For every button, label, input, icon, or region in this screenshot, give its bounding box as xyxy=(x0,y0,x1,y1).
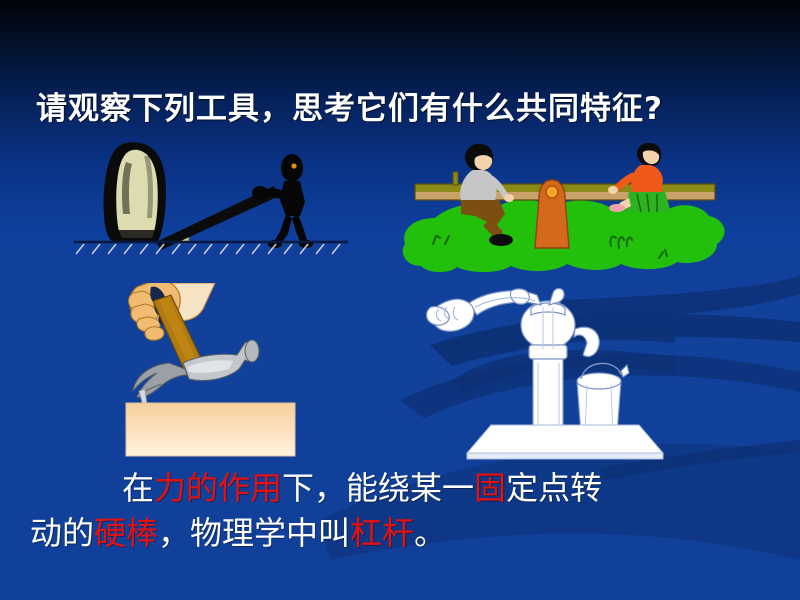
caption-l1-seg3: 下，能绕某一 xyxy=(282,469,474,507)
illustration-lever-rock xyxy=(60,138,360,256)
caption-line-1: 在力的作用下，能绕某一固定点转 xyxy=(30,466,775,511)
slide-canvas: 请观察下列工具，思考它们有什么共同特征? xyxy=(0,0,800,600)
illustration-hammer xyxy=(125,283,320,458)
seesaw-girl xyxy=(608,143,671,212)
caption-l2-highlight-2: 杠杆 xyxy=(350,514,414,552)
seesaw-fulcrum xyxy=(535,180,569,248)
caption-l2-seg3: ，物理学中叫 xyxy=(158,514,350,552)
rock-shape xyxy=(104,142,166,241)
pump-platform xyxy=(467,425,663,459)
caption-l2-highlight-1: 硬棒 xyxy=(94,514,158,552)
wooden-board xyxy=(126,403,295,456)
caption-l1-highlight-1: 力的作用 xyxy=(154,469,282,507)
slide-title: 请观察下列工具，思考它们有什么共同特征? xyxy=(36,92,766,126)
caption-l2-seg5: 。 xyxy=(414,514,446,552)
slide-caption: 在力的作用下，能绕某一固定点转 动的硬棒，物理学中叫杠杆。 xyxy=(30,466,775,557)
caption-l1-seg1: 在 xyxy=(122,469,154,507)
illustration-water-pump xyxy=(425,285,675,460)
caption-l2-seg1: 动的 xyxy=(30,514,94,552)
caption-l1-seg5: 定点转 xyxy=(506,469,602,507)
caption-line-2: 动的硬棒，物理学中叫杠杆。 xyxy=(30,511,775,556)
illustration-seesaw xyxy=(395,140,735,275)
bucket xyxy=(577,363,629,435)
caption-l1-highlight-2: 固 xyxy=(474,469,506,507)
